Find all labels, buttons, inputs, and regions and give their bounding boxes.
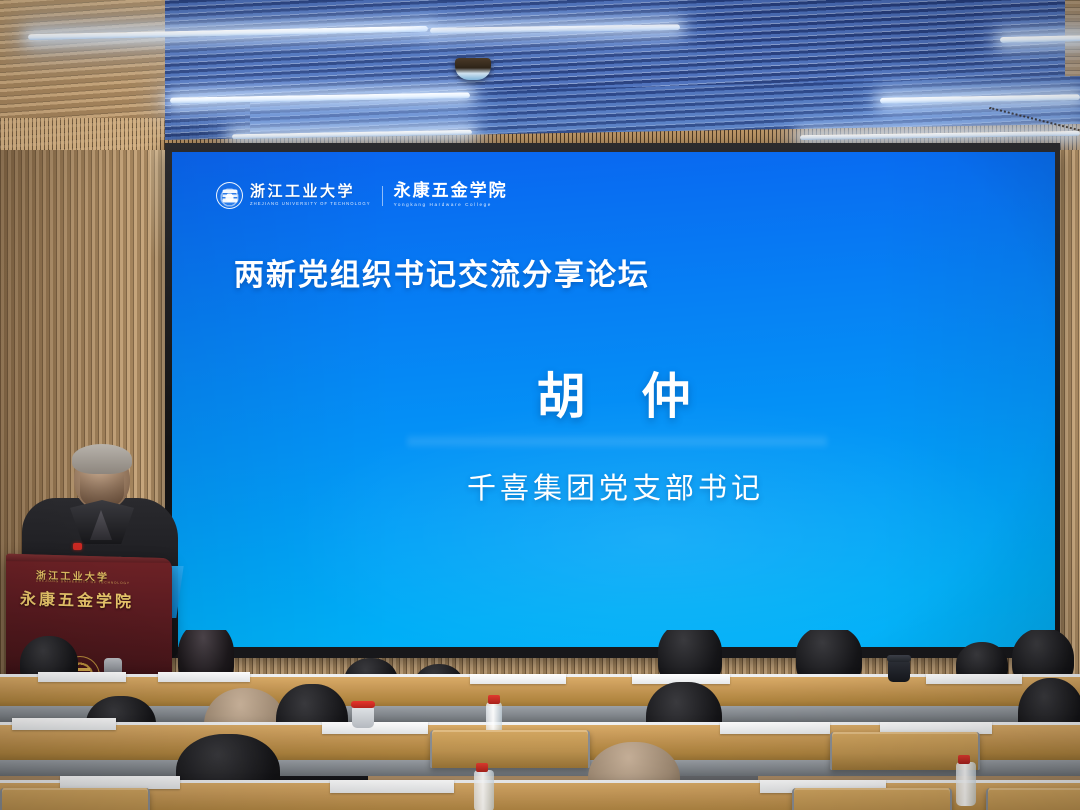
handout-paper (158, 672, 250, 682)
handout-paper (926, 674, 1022, 684)
seat-back (0, 788, 150, 810)
seat-back (430, 730, 590, 768)
audience-area (0, 630, 1080, 810)
water-bottle (956, 762, 976, 806)
slide-logo-college-cn: 永康五金学院 (394, 183, 508, 201)
slide-logo-university-en: ZHEJIANG UNIVERSITY OF TECHNOLOGY (250, 201, 371, 206)
slide-forum-title: 两新党组织书记交流分享论坛 (234, 250, 650, 294)
slide-logo-university: 浙江工业大学 ZHEJIANG UNIVERSITY OF TECHNOLOGY (250, 184, 371, 206)
handout-paper (322, 722, 428, 734)
water-bottle (474, 770, 494, 810)
ceiling-projector-icon (455, 58, 491, 80)
podium-college-cn: 永康五金学院 (20, 585, 134, 612)
handout-paper (470, 674, 566, 684)
slide-logo-college: 永康五金学院 Yongkang Hardware College (394, 183, 508, 208)
presentation-screen[interactable]: 浙江工业大学 ZHEJIANG UNIVERSITY OF TECHNOLOGY… (172, 152, 1055, 647)
handout-paper (330, 780, 454, 793)
slide-divider (407, 433, 827, 449)
party-emblem-pin-icon (73, 543, 82, 550)
paper-cup (888, 660, 910, 682)
handout-paper (720, 722, 830, 734)
slide-logo-college-en: Yongkang Hardware College (394, 202, 508, 208)
ceiling (0, 0, 1080, 160)
seat-back (986, 788, 1080, 810)
handout-paper (12, 718, 116, 730)
slide-logo-university-cn: 浙江工业大学 (250, 184, 371, 200)
ceiling-light-3 (1000, 35, 1080, 43)
paper-cup (352, 706, 374, 728)
lecture-hall-photo: 浙江工业大学 ZHEJIANG UNIVERSITY OF TECHNOLOGY… (0, 0, 1080, 810)
handout-paper (38, 672, 126, 682)
university-seal-icon (216, 182, 243, 209)
podium-university-en: ZHEJIANG UNIVERSITY OF TECHNOLOGY (36, 579, 130, 586)
slide-speaker-role: 千喜集团党支部书记 (172, 465, 1055, 507)
presenter-hair (72, 444, 132, 474)
seat-back (792, 788, 952, 810)
slide-speaker-name: 胡仲 (172, 357, 1055, 428)
slide-logo-lockup: 浙江工业大学 ZHEJIANG UNIVERSITY OF TECHNOLOGY… (216, 182, 508, 209)
logo-divider (382, 186, 383, 206)
